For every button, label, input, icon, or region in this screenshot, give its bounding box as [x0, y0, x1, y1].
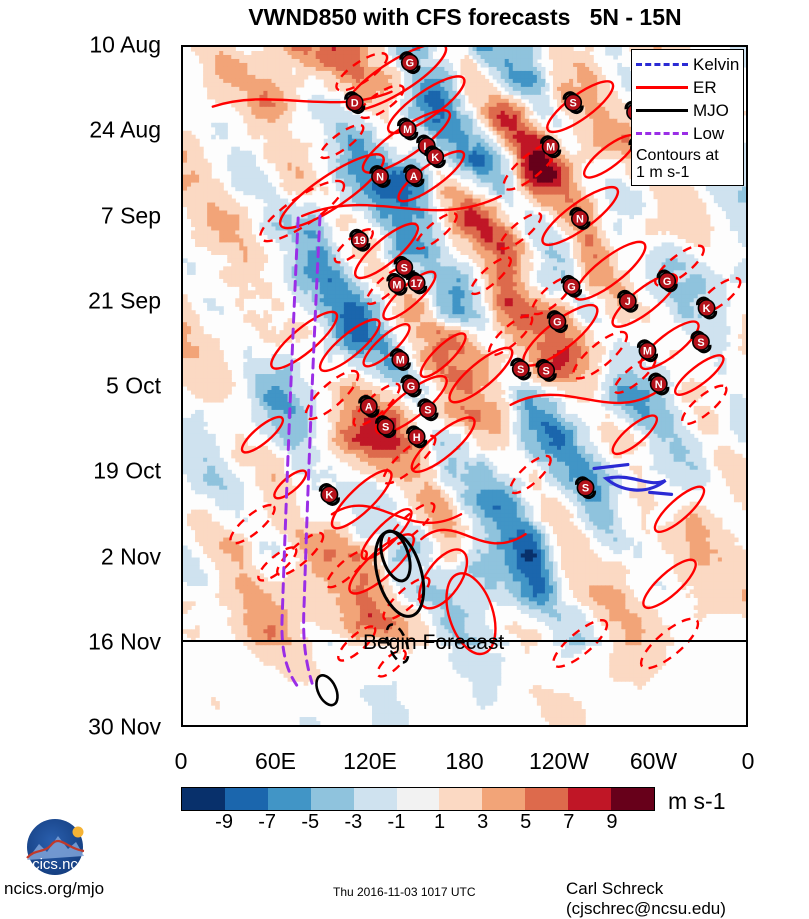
y-axis-minor-tick: [181, 344, 183, 346]
y-tick-label: 7 Sep: [101, 202, 161, 229]
footer-site-link[interactable]: ncics.org/mjo: [4, 879, 104, 899]
y-tick-label: 24 Aug: [89, 117, 161, 144]
er-line-swatch: [636, 86, 688, 89]
legend-label-er: ER: [693, 79, 717, 96]
x-axis-minor-tick: [699, 725, 701, 727]
colorbar-bin: [611, 788, 654, 810]
x-axis-tick: [183, 725, 185, 727]
y-tick-label: 2 Nov: [101, 543, 161, 570]
storm-marker: J: [619, 291, 637, 311]
y-tick-label: 5 Oct: [106, 373, 161, 400]
legend-row-mjo: MJO: [636, 99, 739, 122]
colorbar-tick-label: 1: [434, 811, 445, 834]
x-axis-labels: 060E120E180120W60W0: [181, 748, 748, 778]
colorbar-bin: [354, 788, 397, 810]
legend-label-low: Low: [693, 125, 724, 142]
colorbar-bin: [397, 788, 440, 810]
colorbar-tick-label: -3: [344, 811, 362, 834]
colorbar-bin: [439, 788, 482, 810]
storm-marker: N: [650, 374, 668, 394]
colorbar-unit-label: m s-1: [668, 788, 726, 815]
low-line-swatch: [636, 132, 688, 135]
colorbar-bin: [525, 788, 568, 810]
storm-marker: S: [692, 332, 710, 352]
x-axis-tick: [371, 725, 373, 727]
storm-marker: S: [419, 400, 437, 420]
storm-marker: G: [402, 376, 420, 396]
storm-marker: K: [320, 485, 338, 505]
x-axis-minor-tick: [418, 725, 420, 727]
storm-marker: M: [391, 350, 409, 370]
storm-marker: G: [401, 53, 419, 73]
y-axis-minor-tick: [181, 598, 183, 600]
x-tick-label: 60W: [630, 748, 677, 775]
colorbar-bin: [225, 788, 268, 810]
colorbar-tick-label: 3: [477, 811, 488, 834]
footer-author: Carl Schreck (cjschrec@ncsu.edu): [566, 879, 809, 919]
y-axis-tick: [181, 386, 183, 388]
storm-marker: S: [577, 478, 595, 498]
y-tick-label: 30 Nov: [88, 714, 161, 741]
colorbar-ticks: -9-7-5-3-113579: [181, 811, 655, 837]
colorbar-bin: [268, 788, 311, 810]
colorbar-bin: [482, 788, 525, 810]
colorbar: [181, 787, 655, 811]
y-axis-minor-tick: [181, 174, 183, 176]
x-axis-tick: [652, 725, 654, 727]
x-axis-minor-tick: [605, 725, 607, 727]
storm-marker: A: [405, 166, 423, 186]
begin-forecast-label: Begin Forecast: [363, 631, 504, 655]
storm-marker: N: [571, 209, 589, 229]
logo-sun-icon: [73, 827, 84, 838]
hovmoller-plot[interactable]: GDMLKASKMLNNS19M17GJGKGSMGSSMNASSHKS Beg…: [181, 45, 748, 727]
storm-marker: D: [346, 93, 364, 113]
contour-legend: Kelvin ER MJO Low Contours at 1 m s-1: [631, 49, 744, 186]
y-axis-minor-tick: [181, 259, 183, 261]
y-axis-tick: [181, 725, 183, 727]
y-axis-minor-tick: [181, 428, 183, 430]
x-axis-tick: [465, 725, 467, 727]
colorbar-tick-label: 9: [606, 811, 617, 834]
storm-marker: M: [399, 119, 417, 139]
legend-label-mjo: MJO: [693, 102, 729, 119]
y-axis-labels: 10 Aug24 Aug7 Sep21 Sep5 Oct19 Oct2 Nov1…: [0, 45, 181, 727]
logo-text: cics.nc: [32, 856, 78, 873]
x-tick-label: 60E: [255, 748, 296, 775]
colorbar-bin: [182, 788, 225, 810]
x-axis-tick: [277, 725, 279, 727]
storm-marker: 19: [351, 230, 369, 250]
storm-marker: K: [426, 147, 444, 167]
x-axis-minor-tick: [324, 725, 326, 727]
storm-marker: S: [537, 361, 555, 381]
legend-row-er: ER: [636, 76, 739, 99]
legend-label-kelvin: Kelvin: [693, 56, 739, 73]
y-tick-label: 19 Oct: [93, 458, 161, 485]
x-axis-minor-tick: [230, 725, 232, 727]
legend-contour-note: Contours at 1 m s-1: [636, 147, 739, 181]
y-axis-tick: [181, 47, 183, 49]
y-tick-label: 16 Nov: [88, 628, 161, 655]
mjo-line-swatch: [636, 109, 688, 112]
storm-marker: A: [360, 397, 378, 417]
y-axis-minor-tick: [181, 683, 183, 685]
storm-marker: 17: [408, 273, 426, 293]
x-axis-tick: [746, 725, 748, 727]
colorbar-tick-label: -1: [388, 811, 406, 834]
storm-marker: H: [408, 427, 426, 447]
x-tick-label: 0: [742, 748, 755, 775]
x-tick-label: 180: [445, 748, 483, 775]
y-axis-tick: [181, 301, 183, 303]
storm-marker: G: [548, 312, 566, 332]
colorbar-tick-label: 5: [520, 811, 531, 834]
y-axis-tick: [181, 556, 183, 558]
x-tick-label: 0: [175, 748, 188, 775]
x-axis-tick: [558, 725, 560, 727]
storm-marker: S: [377, 417, 395, 437]
footer-timestamp: Thu 2016-11-03 1017 UTC: [333, 885, 476, 899]
colorbar-bin: [311, 788, 354, 810]
y-axis-tick: [181, 471, 183, 473]
storm-marker: N: [371, 167, 389, 187]
storm-marker: M: [638, 341, 656, 361]
x-tick-label: 120E: [343, 748, 397, 775]
colorbar-tick-label: -7: [258, 811, 276, 834]
storm-marker: G: [658, 271, 676, 291]
y-axis-tick: [181, 132, 183, 134]
colorbar-tick-label: -5: [301, 811, 319, 834]
colorbar-tick-label: -9: [215, 811, 233, 834]
storm-marker: K: [698, 298, 716, 318]
storm-marker: S: [564, 93, 582, 113]
legend-row-low: Low: [636, 122, 739, 145]
y-tick-label: 10 Aug: [89, 32, 161, 59]
y-axis-tick: [181, 640, 183, 642]
cics-nc-logo[interactable]: cics.nc: [6, 818, 104, 876]
y-axis-minor-tick: [181, 513, 183, 515]
y-axis-tick: [181, 217, 183, 219]
page-title: VWND850 with CFS forecasts 5N - 15N: [181, 2, 749, 32]
kelvin-line-swatch: [636, 63, 688, 66]
legend-row-kelvin: Kelvin: [636, 53, 739, 76]
storm-marker: G: [562, 277, 580, 297]
y-tick-label: 21 Sep: [88, 287, 161, 314]
y-axis-minor-tick: [181, 89, 183, 91]
x-tick-label: 120W: [529, 748, 589, 775]
storm-marker: M: [542, 137, 560, 157]
storm-marker: S: [512, 359, 530, 379]
x-axis-minor-tick: [511, 725, 513, 727]
colorbar-bin: [568, 788, 611, 810]
colorbar-tick-label: 7: [563, 811, 574, 834]
